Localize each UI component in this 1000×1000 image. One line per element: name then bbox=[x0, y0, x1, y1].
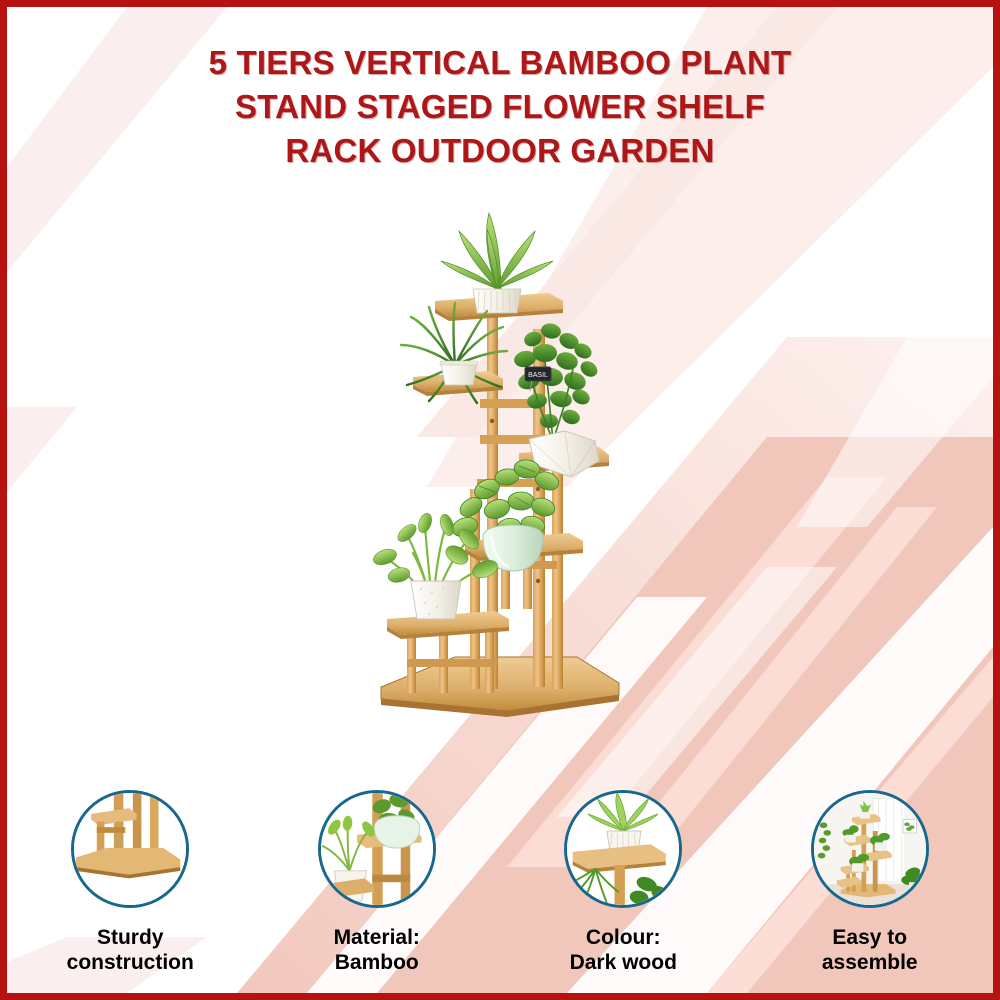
banner-canvas: 5 TIERS VERTICAL BAMBOO PLANT STAND STAG… bbox=[7, 7, 993, 993]
feature-label: Colour: Dark wood bbox=[570, 925, 677, 975]
feature-sturdy-construction: Sturdy construction bbox=[7, 790, 254, 975]
bamboo-shelf-closeup-icon bbox=[321, 793, 433, 905]
title-line-1: 5 TIERS VERTICAL BAMBOO PLANT bbox=[7, 41, 993, 85]
product-listing-banner: 5 TIERS VERTICAL BAMBOO PLANT STAND STAG… bbox=[0, 0, 1000, 1000]
feature-colour-dark-wood: Colour: Dark wood bbox=[500, 790, 747, 975]
sturdy-construction-icon bbox=[71, 790, 189, 908]
feature-label: Material: Bamboo bbox=[334, 925, 420, 975]
material-bamboo-icon bbox=[318, 790, 436, 908]
bamboo-plant-stand-illustration: BASIL bbox=[337, 189, 657, 729]
colour-dark-wood-icon bbox=[564, 790, 682, 908]
title-line-2: STAND STAGED FLOWER SHELF bbox=[7, 85, 993, 129]
plant-grass-shelf5 bbox=[371, 512, 500, 619]
product-hero-image: BASIL bbox=[337, 189, 657, 729]
plant-stand-base-closeup-icon bbox=[74, 793, 186, 905]
product-title: 5 TIERS VERTICAL BAMBOO PLANT STAND STAG… bbox=[7, 41, 993, 173]
title-line-3: RACK OUTDOOR GARDEN bbox=[7, 129, 993, 173]
feature-label: Easy to assemble bbox=[822, 925, 918, 975]
easy-to-assemble-icon bbox=[811, 790, 929, 908]
plant-stand-in-room-icon bbox=[814, 793, 926, 905]
feature-highlights-row: Sturdy construction bbox=[7, 790, 993, 975]
feature-easy-to-assemble: Easy to assemble bbox=[747, 790, 994, 975]
succulent-on-shelf-closeup-icon bbox=[567, 793, 679, 905]
feature-material-bamboo: Material: Bamboo bbox=[254, 790, 501, 975]
plant-label-text: BASIL bbox=[528, 372, 548, 379]
feature-label: Sturdy construction bbox=[67, 925, 194, 975]
